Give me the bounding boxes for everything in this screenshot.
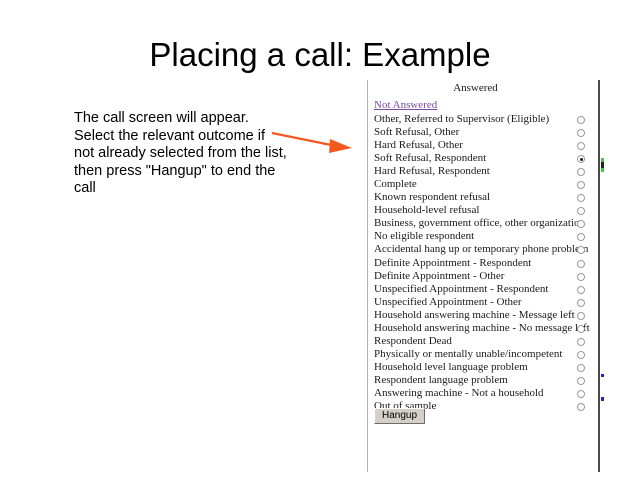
window-frame-divider [598, 80, 600, 472]
outcome-radio-button[interactable] [577, 142, 585, 150]
outcome-radio-button[interactable] [577, 338, 585, 346]
not-answered-link[interactable]: Not Answered [374, 99, 437, 111]
outcome-radio-button[interactable] [577, 273, 585, 281]
outcome-radio-button[interactable] [577, 260, 585, 268]
outcome-radio-button[interactable] [577, 312, 585, 320]
outcome-radio-button[interactable] [577, 129, 585, 137]
outcome-radio-button[interactable] [577, 116, 585, 124]
outcome-label: Unspecified Appointment - Other [374, 296, 522, 308]
outcome-radio-button[interactable] [577, 168, 585, 176]
outcome-radio-button[interactable] [577, 233, 585, 241]
outcome-row[interactable]: Known respondent refusal [368, 191, 600, 204]
outcome-row[interactable]: Hard Refusal, Respondent [368, 165, 600, 178]
outcome-label: Soft Refusal, Other [374, 126, 459, 138]
outcome-label: Soft Refusal, Respondent [374, 152, 486, 164]
scroll-marker-blue-lower [601, 397, 604, 401]
answered-column-header: Answered [368, 82, 583, 94]
outcome-radio-button[interactable] [577, 325, 585, 333]
outcome-row[interactable]: Household level language problem [368, 361, 600, 374]
outcome-radio-button[interactable] [577, 351, 585, 359]
scroll-marker-blue [601, 374, 604, 377]
outcome-label: Physically or mentally unable/incompeten… [374, 348, 562, 360]
outcome-radio-button[interactable] [577, 286, 585, 294]
outcome-label: Respondent Dead [374, 335, 452, 347]
outcome-label: Hard Refusal, Other [374, 139, 463, 151]
outcome-label: Accidental hang up or temporary phone pr… [374, 243, 588, 255]
hangup-button[interactable]: Hangup [374, 408, 425, 424]
outcome-row[interactable]: Accidental hang up or temporary phone pr… [368, 243, 600, 256]
outcome-radio-button[interactable] [577, 181, 585, 189]
outcome-label: Answering machine - Not a household [374, 387, 544, 399]
outcome-row[interactable]: Physically or mentally unable/incompeten… [368, 348, 600, 361]
outcome-label: Household-level refusal [374, 204, 479, 216]
page-title: Placing a call: Example [0, 36, 640, 74]
outcome-row[interactable]: Unspecified Appointment - Respondent [368, 283, 600, 296]
outcome-label: Hard Refusal, Respondent [374, 165, 490, 177]
outcome-row[interactable]: Respondent language problem [368, 374, 600, 387]
outcome-label: Household answering machine - No message… [374, 322, 590, 334]
outcome-radio-button[interactable] [577, 364, 585, 372]
outcome-row[interactable]: Complete [368, 178, 600, 191]
outcome-radio-button[interactable] [577, 299, 585, 307]
outcome-radio-button[interactable] [577, 194, 585, 202]
outcome-row[interactable]: Hard Refusal, Other [368, 139, 600, 152]
outcome-row[interactable]: Soft Refusal, Respondent [368, 152, 600, 165]
outcome-label: Unspecified Appointment - Respondent [374, 283, 548, 295]
outcome-row[interactable]: No eligible respondent [368, 230, 600, 243]
outcome-radio-button[interactable] [577, 207, 585, 215]
outcome-radio-button[interactable] [577, 155, 585, 163]
scroll-marker-green-lower [601, 168, 604, 172]
outcome-label: Household answering machine - Message le… [374, 309, 575, 321]
outcome-label: Respondent language problem [374, 374, 508, 386]
outcome-row[interactable]: Definite Appointment - Other [368, 270, 600, 283]
outcome-row[interactable]: Business, government office, other organ… [368, 217, 600, 230]
outcome-label: Definite Appointment - Respondent [374, 257, 531, 269]
outcome-label: Other, Referred to Supervisor (Eligible) [374, 113, 549, 125]
outcome-row[interactable]: Answering machine - Not a household [368, 387, 600, 400]
outcome-row[interactable]: Household-level refusal [368, 204, 600, 217]
outcome-row[interactable]: Definite Appointment - Respondent [368, 257, 600, 270]
outcome-radio-button[interactable] [577, 390, 585, 398]
call-screen-panel: Answered Not Answered Other, Referred to… [367, 80, 600, 472]
outcome-row[interactable]: Household answering machine - No message… [368, 322, 600, 335]
outcome-label: Definite Appointment - Other [374, 270, 504, 282]
outcome-list: Other, Referred to Supervisor (Eligible)… [368, 113, 600, 413]
outcome-label: Household level language problem [374, 361, 528, 373]
outcome-row[interactable]: Household answering machine - Message le… [368, 309, 600, 322]
outcome-label: Business, government office, other organ… [374, 217, 585, 229]
outcome-radio-button[interactable] [577, 403, 585, 411]
outcome-label: Known respondent refusal [374, 191, 490, 203]
outcome-row[interactable]: Unspecified Appointment - Other [368, 296, 600, 309]
scrollbar-strip[interactable] [601, 80, 604, 472]
outcome-row[interactable]: Respondent Dead [368, 335, 600, 348]
outcome-row[interactable]: Other, Referred to Supervisor (Eligible) [368, 113, 600, 126]
instruction-text: The call screen will appear. Select the … [74, 110, 289, 198]
outcome-radio-button[interactable] [577, 377, 585, 385]
outcome-row[interactable]: Soft Refusal, Other [368, 126, 600, 139]
outcome-label: No eligible respondent [374, 230, 474, 242]
outcome-label: Complete [374, 178, 417, 190]
